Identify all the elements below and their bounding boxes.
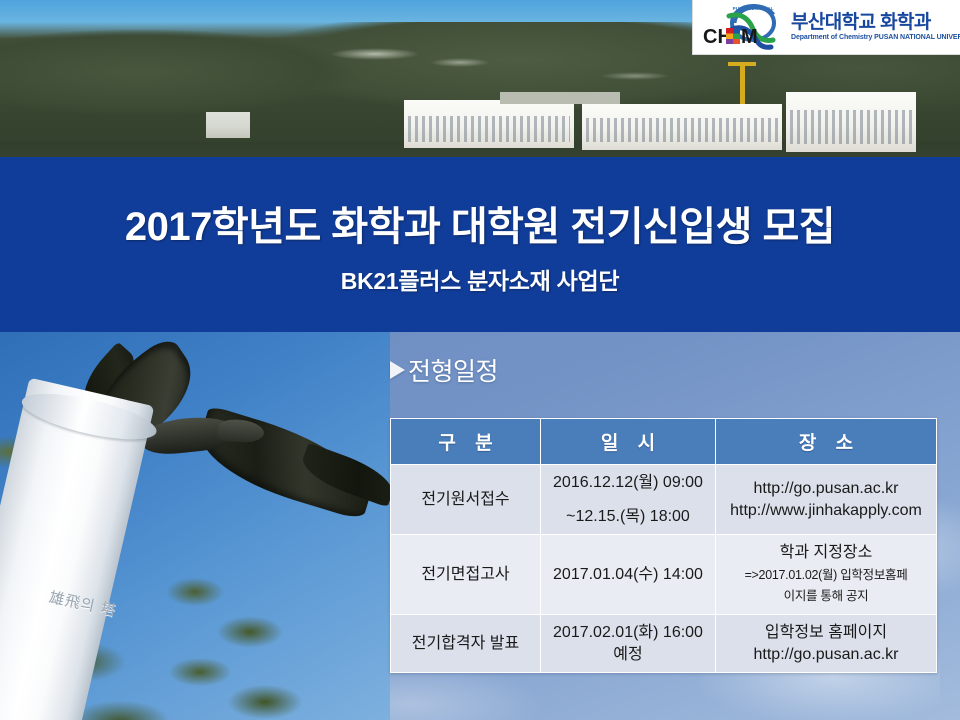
construction-crane-arm	[728, 62, 756, 66]
column-header-place: 장 소	[716, 419, 937, 465]
column-header-category: 구 분	[391, 419, 541, 465]
section-heading: 전형일정	[390, 352, 498, 388]
chem-logo-icon: PUSAN NATIONAL CH M	[701, 3, 785, 51]
poster-root: PUSAN NATIONAL CH M 부산대학교 화학과 Department…	[0, 0, 960, 720]
table-row: 전기면접고사 2017.01.04(수) 14:00 학과 지정장소 =>201…	[391, 535, 937, 615]
cell-date-line: 2016.12.12(월) 09:00	[553, 474, 703, 491]
cell-place-note: =>2017.01.02(월) 입학정보홈페	[745, 568, 908, 582]
poster-title: 2017학년도 화학과 대학원 전기신입생 모집	[125, 194, 835, 252]
building-windows	[408, 116, 570, 142]
cell-date: 2017.02.01(화) 16:00 예정	[541, 614, 716, 672]
logo-title-en: Department of Chemistry PUSAN NATIONAL U…	[791, 34, 960, 41]
building-windows	[586, 118, 778, 142]
building-windows	[790, 110, 912, 144]
cell-place-line: http://go.pusan.ac.kr	[754, 646, 899, 663]
svg-text:M: M	[741, 26, 758, 48]
cell-category: 전기원서접수	[391, 465, 541, 535]
table-header-row: 구 분 일 시 장 소	[391, 419, 937, 465]
schedule-table: 구 분 일 시 장 소 전기원서접수 2016.12.12(월) 09:00 ~…	[390, 418, 937, 673]
table-row: 전기원서접수 2016.12.12(월) 09:00 ~12.15.(목) 18…	[391, 465, 937, 535]
cell-date-line: 2017.02.01(화) 16:00	[553, 624, 703, 641]
cell-place-line: http://go.pusan.ac.kr	[754, 480, 899, 497]
cell-date-line: ~12.15.(목) 18:00	[566, 508, 690, 525]
table-row: 전기합격자 발표 2017.02.01(화) 16:00 예정 입학정보 홈페이…	[391, 614, 937, 672]
triangle-bullet-icon	[390, 361, 405, 379]
cell-category: 전기합격자 발표	[391, 614, 541, 672]
ridge-highlight	[430, 58, 490, 67]
campus-building	[206, 112, 250, 138]
cell-place-line: http://www.jinhakapply.com	[730, 502, 922, 519]
cell-date: 2017.01.04(수) 14:00	[541, 535, 716, 615]
cell-place: 입학정보 홈페이지 http://go.pusan.ac.kr	[716, 614, 937, 672]
svg-text:PUSAN NATIONAL: PUSAN NATIONAL	[733, 6, 774, 11]
monument-photo: 雄飛의 塔	[0, 332, 390, 720]
campus-building-roof	[500, 92, 620, 104]
cell-place: 학과 지정장소 =>2017.01.02(월) 입학정보홈페 이지를 통해 공지	[716, 535, 937, 615]
ridge-highlight	[330, 48, 420, 60]
cell-category: 전기면접고사	[391, 535, 541, 615]
logo-title-kr: 부산대학교 화학과	[791, 13, 960, 33]
column-header-date: 일 시	[541, 419, 716, 465]
cell-place-line: 학과 지정장소	[780, 544, 873, 561]
cell-date: 2016.12.12(월) 09:00 ~12.15.(목) 18:00	[541, 465, 716, 535]
section-heading-label: 전형일정	[408, 352, 498, 388]
title-banner: 2017학년도 화학과 대학원 전기신입생 모집 BK21플러스 분자소재 사업…	[0, 157, 960, 332]
ridge-highlight	[600, 72, 670, 80]
university-logo: PUSAN NATIONAL CH M 부산대학교 화학과 Department…	[692, 0, 960, 55]
poster-subtitle: BK21플러스 분자소재 사업단	[341, 262, 619, 296]
logo-text-block: 부산대학교 화학과 Department of Chemistry PUSAN …	[791, 13, 960, 42]
line-spacer	[546, 494, 710, 506]
cell-place-line: 입학정보 홈페이지	[765, 624, 887, 641]
construction-crane	[740, 62, 745, 108]
cell-place-note: 이지를 통해 공지	[784, 589, 869, 603]
pine-tree	[155, 562, 345, 720]
cell-date-line: 2017.01.04(수) 14:00	[553, 566, 703, 583]
cell-date-line: 예정	[613, 646, 642, 663]
cell-place: http://go.pusan.ac.kr http://www.jinhaka…	[716, 465, 937, 535]
